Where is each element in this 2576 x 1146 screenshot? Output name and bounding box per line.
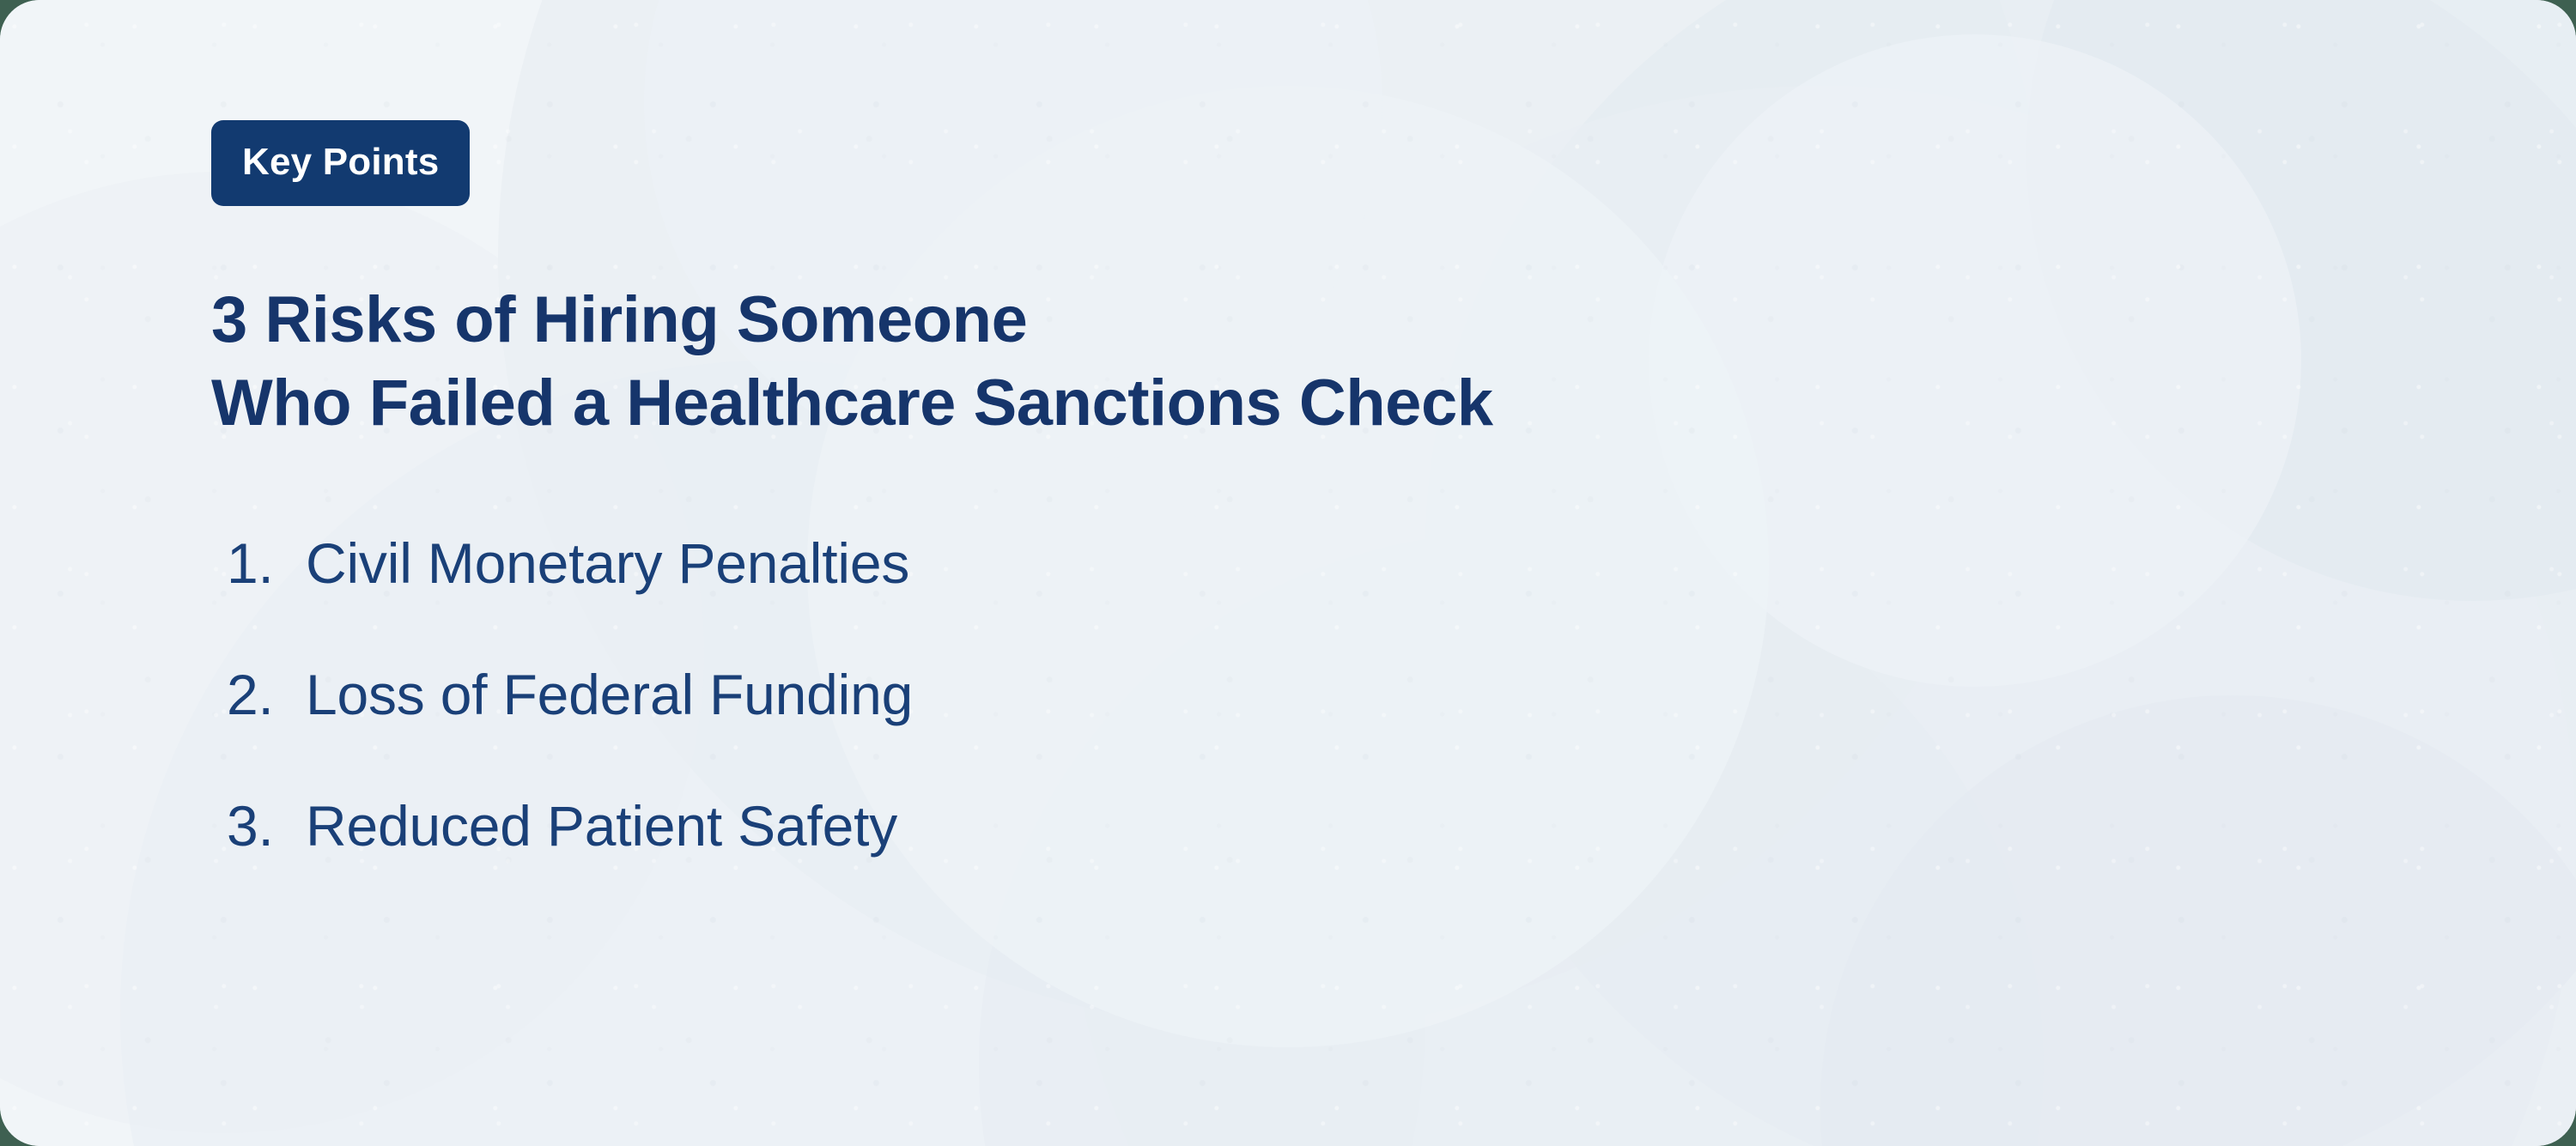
list-item-number: 2. <box>227 666 306 723</box>
list-item-label: Civil Monetary Penalties <box>306 535 909 591</box>
headline-line-2: Who Failed a Healthcare Sanctions Check <box>211 361 2576 445</box>
key-points-badge: Key Points <box>211 120 470 206</box>
list-item: 3. Reduced Patient Safety <box>227 797 2576 854</box>
page-title: 3 Risks of Hiring Someone Who Failed a H… <box>211 278 2576 446</box>
headline-line-1: 3 Risks of Hiring Someone <box>211 278 2576 361</box>
list-item-number: 3. <box>227 797 306 854</box>
list-item-label: Loss of Federal Funding <box>306 666 913 723</box>
list-item: 1. Civil Monetary Penalties <box>227 535 2576 591</box>
key-points-card: Key Points 3 Risks of Hiring Someone Who… <box>0 0 2576 1146</box>
list-item: 2. Loss of Federal Funding <box>227 666 2576 723</box>
key-points-list: 1. Civil Monetary Penalties 2. Loss of F… <box>227 535 2576 854</box>
card-content: Key Points 3 Risks of Hiring Someone Who… <box>0 0 2576 854</box>
list-item-number: 1. <box>227 535 306 591</box>
list-item-label: Reduced Patient Safety <box>306 797 897 854</box>
